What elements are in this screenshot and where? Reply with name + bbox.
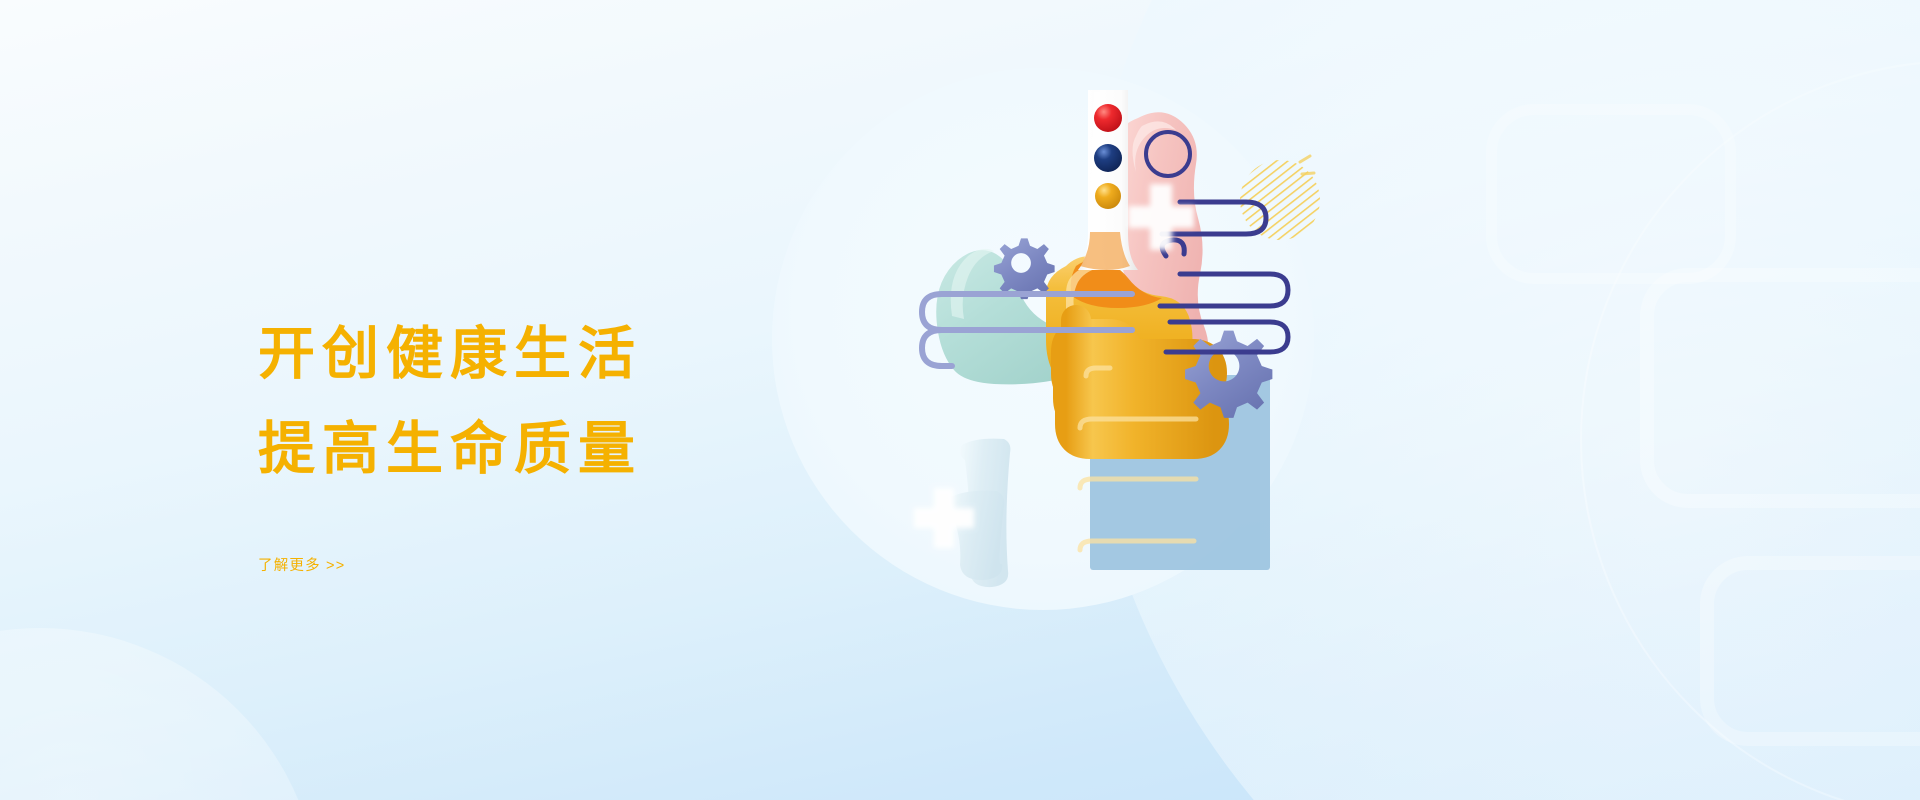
gear-small bbox=[994, 238, 1055, 299]
background-rounded-rect-3 bbox=[1486, 104, 1736, 284]
background-circle-bottom-left bbox=[0, 628, 320, 800]
pale-bottle-lower bbox=[947, 491, 1005, 580]
hero-banner: 开创健康生活 提高生命质量 了解更多 >> bbox=[0, 0, 1920, 800]
digestive-health-illustration bbox=[880, 70, 1440, 630]
learn-more-link[interactable]: 了解更多 >> bbox=[258, 554, 345, 575]
hero-copy: 开创健康生活 提高生命质量 了解更多 >> bbox=[258, 310, 818, 575]
gear-large bbox=[1185, 331, 1272, 418]
background-rounded-rect-2 bbox=[1700, 556, 1920, 746]
pill-yellow bbox=[1095, 183, 1121, 209]
pill-red bbox=[1094, 104, 1122, 132]
background-rounded-rect-1 bbox=[1640, 268, 1920, 508]
headline-line-2: 提高生命质量 bbox=[258, 405, 818, 494]
background-arc bbox=[1580, 60, 1920, 800]
headline-line-1: 开创健康生活 bbox=[258, 310, 818, 399]
pill-navy bbox=[1094, 144, 1122, 172]
